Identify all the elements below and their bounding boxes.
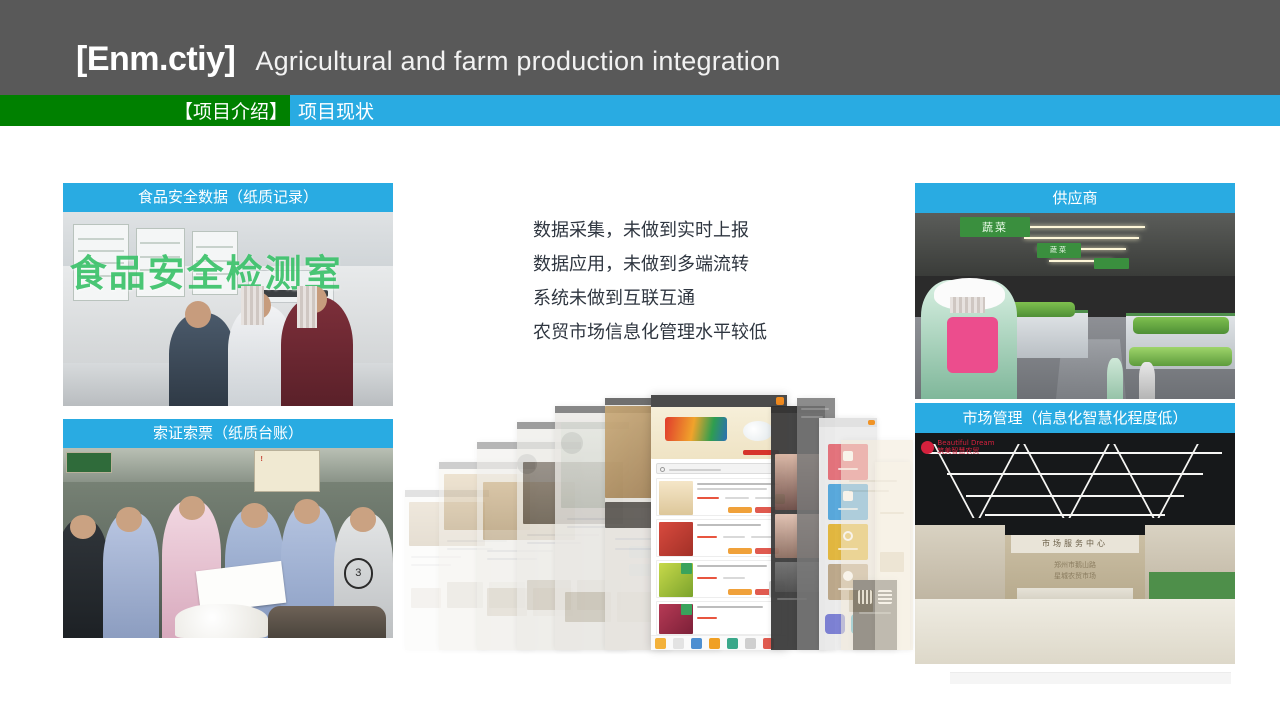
screen-thumb: [880, 552, 904, 572]
face-blur-redaction: [950, 297, 985, 314]
packaged-goods: [268, 606, 387, 638]
nav-bar: 【项目介绍】 项目现状: [0, 95, 1280, 126]
product-discount-badge: [681, 563, 692, 574]
product-title-line: [697, 565, 767, 567]
person-head: [350, 507, 376, 532]
person-head: [116, 507, 142, 532]
market-section-sign: 蔬菜: [1037, 243, 1082, 258]
product-title-line: [697, 524, 761, 526]
person-head: [70, 515, 96, 540]
product-discount-badge: [681, 604, 692, 615]
battery-icon: [868, 420, 875, 425]
screen-status-bar: [819, 418, 877, 427]
product-cart-button[interactable]: [728, 548, 752, 554]
market-name-plaque: 郑州市鹅山路星城农贸市场: [1033, 560, 1116, 585]
dock-icon[interactable]: [691, 638, 702, 649]
dock-icon[interactable]: [655, 638, 666, 649]
product-price: [697, 577, 717, 579]
nav-page-label: 项目现状: [298, 95, 374, 126]
foreground-shopper-jacket: [947, 317, 998, 373]
product-row[interactable]: [656, 601, 782, 635]
photo-vegetable-market: 蔬菜 蔬菜: [915, 213, 1235, 399]
product-cart-button[interactable]: [728, 589, 752, 595]
product-title-line: [697, 488, 767, 490]
product-title-line: [697, 606, 763, 608]
bottom-icon-dock: [651, 635, 787, 650]
scene-smart-market: Beautiful Dream筑美智慧农贸 市场服务中心 郑州市鹅山路星城农贸市…: [915, 433, 1235, 664]
app-screens-collage: [405, 395, 910, 650]
collage-screen-ecommerce: [651, 395, 787, 650]
product-meta-line: [725, 497, 749, 499]
promo-title-art: [665, 417, 727, 441]
product-meta-line: [723, 577, 745, 579]
dock-icon[interactable]: [727, 638, 738, 649]
card-market-management: 市场管理（信息化智慧化程度低） Beaut: [915, 403, 1235, 664]
scene-vegetable-market: 蔬菜 蔬菜: [915, 213, 1235, 399]
logo-mark: [921, 441, 934, 454]
face-blur-redaction: [297, 286, 317, 329]
person-head: [241, 503, 267, 528]
person-silhouette: [281, 297, 354, 406]
bottom-accent-strip: [950, 672, 1231, 684]
header-inner: [Enm.ctiy] Agricultural and farm product…: [0, 40, 780, 95]
product-image: [659, 522, 693, 556]
bullet-item: 数据应用，未做到多端流转: [533, 248, 863, 282]
photo-inspection-ledger: ! 3: [63, 448, 393, 638]
product-meta-line: [751, 536, 773, 538]
product-image: [659, 481, 693, 515]
photo-food-safety-lab: 食品安全检测室: [63, 212, 393, 406]
screen-text-line: [880, 512, 904, 514]
brand-watermark: Beautiful Dream筑美智慧农贸: [921, 440, 994, 455]
screen-thumb: [411, 588, 441, 608]
page-title: Agricultural and farm production integra…: [255, 46, 780, 77]
screen-search-bar[interactable]: [656, 463, 782, 474]
product-row[interactable]: [656, 560, 782, 598]
lab-glass-signage: 食品安全检测室: [70, 243, 387, 297]
market-section-sign: [1094, 258, 1129, 269]
card-food-safety: 食品安全数据（纸质记录） 食品安全检测室: [63, 183, 393, 406]
dock-icon[interactable]: [709, 638, 720, 649]
card-caption-supplier: 供应商: [915, 183, 1235, 213]
screen-nav-menu-button[interactable]: [776, 397, 784, 405]
card-supplier: 供应商 蔬菜 蔬菜: [915, 183, 1235, 399]
produce-pile: [175, 604, 267, 638]
search-icon: [660, 467, 665, 472]
status-bullet-list: 数据采集，未做到实时上报 数据应用，未做到多端流转 系统未做到互联互通 农贸市场…: [533, 214, 863, 350]
photo-smart-market-render: Beautiful Dream筑美智慧农贸 市场服务中心 郑州市鹅山路星城农贸市…: [915, 433, 1235, 664]
product-row[interactable]: [656, 519, 782, 557]
shopper-silhouette: [1107, 358, 1123, 399]
person-head: [179, 496, 205, 521]
dock-icon[interactable]: [673, 638, 684, 649]
shopper-silhouette: [1139, 362, 1155, 399]
produce-display: [1133, 317, 1229, 334]
slide-root: [Enm.ctiy] Agricultural and farm product…: [0, 0, 1280, 720]
screen-top-nav: [651, 395, 787, 407]
product-price: [697, 497, 719, 499]
search-placeholder-line: [669, 469, 721, 471]
bullet-item: 系统未做到互联互通: [533, 282, 863, 316]
product-price: [697, 617, 717, 619]
service-center-sign: 市场服务中心: [1011, 535, 1139, 553]
face-blur-redaction: [241, 286, 264, 325]
tshirt-number-graphic: 3: [344, 558, 374, 588]
product-row[interactable]: [656, 478, 782, 516]
brand-logo-text: [Enm.ctiy]: [76, 40, 235, 79]
product-price: [697, 536, 717, 538]
card-caption-market-management: 市场管理（信息化智慧化程度低）: [915, 403, 1235, 433]
product-title-line: [697, 483, 779, 485]
nav-section-label: 【项目介绍】: [174, 97, 290, 124]
slide-header: [Enm.ctiy] Agricultural and farm product…: [0, 0, 1280, 95]
screen-text-line: [801, 408, 829, 410]
bullet-item: 农贸市场信息化管理水平较低: [533, 316, 863, 350]
logo-text: Beautiful Dream筑美智慧农贸: [937, 440, 994, 455]
card-certificates: 索证索票（纸质台账） ! 3: [63, 419, 393, 638]
card-caption-food-safety: 食品安全数据（纸质记录）: [63, 183, 393, 212]
market-ceiling: [63, 448, 393, 482]
market-poster: !: [254, 450, 320, 492]
nav-section-tab[interactable]: 【项目介绍】: [0, 95, 290, 126]
product-cart-button[interactable]: [728, 507, 752, 513]
collage-screen: [875, 462, 910, 650]
screen-thumb: [849, 590, 873, 612]
market-section-sign: 蔬菜: [960, 217, 1030, 237]
bullet-item: 数据采集，未做到实时上报: [533, 214, 863, 248]
render-floor: [915, 599, 1235, 664]
screen-promo-banner: [651, 407, 787, 459]
scene-food-safety: 食品安全检测室: [63, 212, 393, 406]
product-meta-line: [723, 536, 745, 538]
market-sign: [66, 452, 112, 473]
promo-egg-graphic: [743, 421, 773, 441]
card-caption-certificates: 索证索票（纸质台账）: [63, 419, 393, 448]
scene-inspection: ! 3: [63, 448, 393, 638]
dock-icon[interactable]: [745, 638, 756, 649]
